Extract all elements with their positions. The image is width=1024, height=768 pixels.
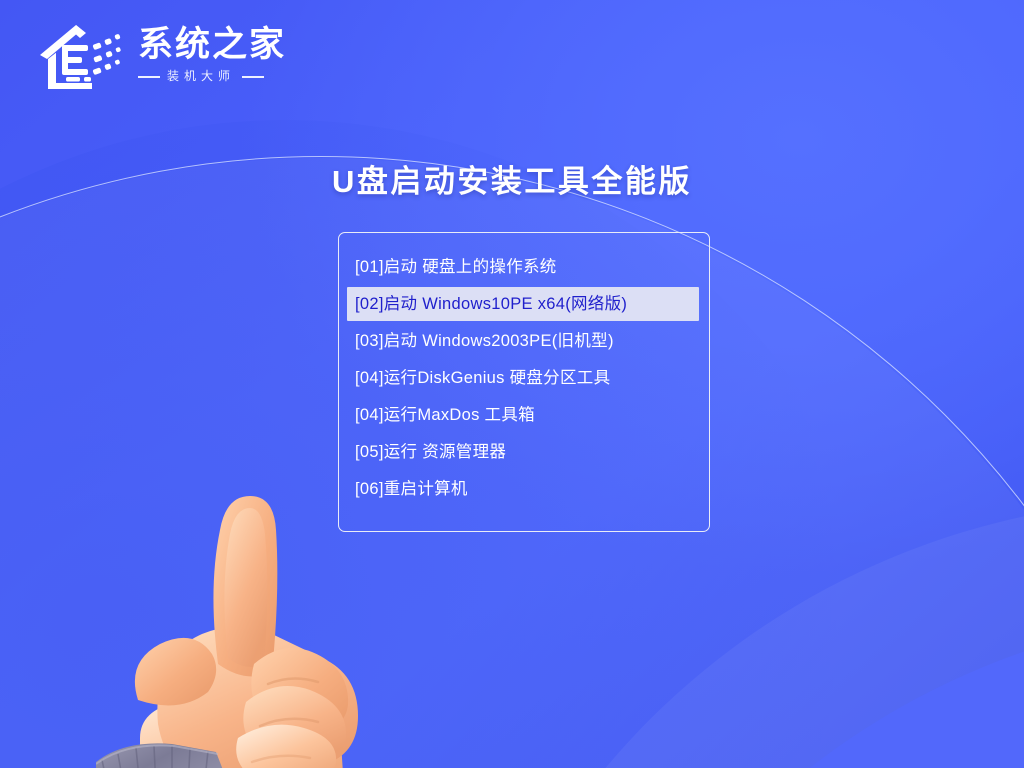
subtitle-dash-left: [138, 76, 160, 78]
page-title: U盘启动安装工具全能版: [0, 156, 1024, 201]
menu-item[interactable]: [02]启动 Windows10PE x64(网络版): [347, 287, 699, 321]
brand-name: 系统之家: [138, 27, 286, 64]
brand-subtitle: 装机大师: [138, 68, 286, 85]
brand-logo-text: 系统之家 装机大师: [138, 27, 286, 88]
subtitle-dash-right: [242, 76, 264, 78]
boot-menu-panel: [01]启动 硬盘上的操作系统 [02]启动 Windows10PE x64(网…: [338, 232, 710, 532]
house-pixel-logo-icon: [36, 19, 128, 95]
background-arc-band-lower: [430, 500, 1024, 768]
menu-item[interactable]: [03]启动 Windows2003PE(旧机型): [347, 324, 699, 358]
menu-item[interactable]: [05]运行 资源管理器: [347, 435, 699, 469]
menu-item[interactable]: [01]启动 硬盘上的操作系统: [347, 250, 699, 284]
subtitle-text: 装机大师: [167, 67, 235, 84]
brand-logo: 系统之家 装机大师: [36, 18, 286, 96]
menu-item[interactable]: [06]重启计算机: [347, 472, 699, 506]
menu-item[interactable]: [04]运行MaxDos 工具箱: [347, 398, 699, 432]
boot-menu-screen: 系统之家 装机大师 U盘启动安装工具全能版 [01]启动 硬盘上的操作系统 [0…: [0, 0, 1024, 768]
background-arc-band-mask: [520, 610, 1024, 768]
boot-menu-list: [01]启动 硬盘上的操作系统 [02]启动 Windows10PE x64(网…: [339, 250, 709, 506]
menu-item[interactable]: [04]运行DiskGenius 硬盘分区工具: [347, 361, 699, 395]
